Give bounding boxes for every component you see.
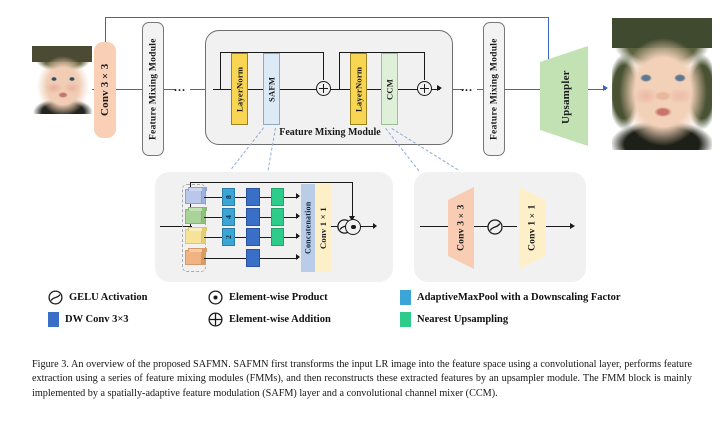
safm-conv-1x1-block: Conv 1×1 xyxy=(315,184,331,272)
ccm-conv-3x3-label: Conv 3×3 xyxy=(456,205,467,251)
upsampler-block: Upsampler xyxy=(536,28,592,148)
feature-mixing-module-right-label: Feature Mixing Module xyxy=(489,38,500,140)
feature-map-slab-1 xyxy=(185,189,202,204)
input-lr-image xyxy=(32,46,92,114)
safm-branch-2-arrowhead xyxy=(296,213,300,219)
dw-conv-swatch xyxy=(48,312,59,327)
legend-item-gelu-activation: GELU Activation xyxy=(48,290,147,305)
gelu-activation-icon xyxy=(487,219,503,235)
adaptive-maxpool-swatch xyxy=(400,290,411,305)
fmm-residual-1-left-riser xyxy=(220,52,221,89)
safm-label: SAFM xyxy=(267,76,277,101)
fmm-residual-1-right-drop xyxy=(323,52,324,80)
ccm-conv-1x1-label-wrap: Conv 1×1 xyxy=(519,194,545,262)
adaptive-maxpool-8: 8 xyxy=(222,188,235,206)
feature-mixing-module-right: Feature Mixing Module xyxy=(483,22,505,156)
concatenation-block: Concatenation xyxy=(301,184,315,272)
figure-caption-divider xyxy=(0,338,720,339)
output-hr-image xyxy=(612,18,712,150)
legend: GELU Activation DW Conv 3×3 Element-wise… xyxy=(48,288,678,332)
layernorm-2-block: LayerNorm xyxy=(350,53,367,125)
element-wise-product-node xyxy=(345,219,361,235)
element-wise-addition-icon xyxy=(208,312,223,327)
feature-mixing-module-left: Feature Mixing Module xyxy=(142,22,164,156)
nearest-upsample-3 xyxy=(271,228,284,246)
legend-item-dw-conv: DW Conv 3×3 xyxy=(48,312,129,327)
safm-conv-1x1-label: Conv 1×1 xyxy=(318,207,328,249)
conv-to-fmm-line xyxy=(116,89,144,90)
element-wise-product-icon xyxy=(208,290,223,305)
fmm-right-to-add-line xyxy=(505,89,540,90)
upsampler-to-output-arrowhead xyxy=(603,85,608,91)
conv-3x3-head-block: Conv 3×3 xyxy=(94,42,116,138)
legend-item-adaptive-maxpool: AdaptiveMaxPool with a Downscaling Facto… xyxy=(400,290,621,305)
ellipsis-right: ... xyxy=(461,80,477,95)
nearest-upsampling-swatch xyxy=(400,312,411,327)
dw-conv-2 xyxy=(246,208,260,226)
dw-conv-3 xyxy=(246,228,260,246)
safm-branch-4-line-a xyxy=(204,258,246,259)
fmm-add-node-2 xyxy=(417,81,432,96)
ccm-label: CCM xyxy=(385,78,395,99)
legend-label-adaptive-maxpool: AdaptiveMaxPool with a Downscaling Facto… xyxy=(417,292,621,303)
ccm-output-arrowhead xyxy=(570,223,575,229)
ellipsis-to-fmm-detail-line xyxy=(190,89,206,90)
legend-label-dw-conv: DW Conv 3×3 xyxy=(65,314,129,325)
fmm-residual-2-right-drop xyxy=(424,52,425,80)
ccm-gelu-node xyxy=(487,219,503,235)
fmm-add-node-1 xyxy=(316,81,331,96)
safm-branch-1-line-a xyxy=(204,197,224,198)
legend-item-element-wise-addition: Element-wise Addition xyxy=(208,312,331,327)
ccm-conv-3x3-label-wrap: Conv 3×3 xyxy=(448,194,474,262)
legend-label-gelu-activation: GELU Activation xyxy=(69,292,147,303)
safm-branch-3-line-a xyxy=(204,237,224,238)
dw-conv-4 xyxy=(246,249,260,267)
ccm-conv-1x1-block: Conv 1×1 xyxy=(513,186,551,270)
legend-item-nearest-upsampling: Nearest Upsampling xyxy=(400,312,508,327)
dw-conv-1 xyxy=(246,188,260,206)
layernorm-2-label: LayerNorm xyxy=(354,66,364,111)
adaptive-maxpool-2: 2 xyxy=(222,228,235,246)
safm-output-arrowhead xyxy=(373,223,377,229)
fmm-residual-2-left-riser xyxy=(339,52,340,89)
safm-branch-4-arrowhead xyxy=(296,254,300,260)
safm-branch-3-arrowhead xyxy=(296,233,300,239)
safm-branch-2-line-a xyxy=(204,217,224,218)
nearest-upsample-1 xyxy=(271,188,284,206)
conv-3x3-head-label: Conv 3×3 xyxy=(99,64,111,116)
ccm-block: CCM xyxy=(381,53,398,125)
feature-map-slab-2 xyxy=(185,209,202,224)
feature-map-slab-4 xyxy=(185,250,202,265)
layernorm-1-label: LayerNorm xyxy=(235,66,245,111)
safm-detail-skip-drop xyxy=(352,182,353,219)
adaptive-maxpool-8-label: 8 xyxy=(222,188,235,206)
legend-item-element-wise-product: Element-wise Product xyxy=(208,290,328,305)
safm-branch-4-line-b xyxy=(260,258,298,259)
ccm-output-line xyxy=(546,226,572,227)
gelu-activation-icon xyxy=(48,290,63,305)
adaptive-maxpool-4: 4 xyxy=(222,208,235,226)
figure-caption: Figure 3. An overview of the proposed SA… xyxy=(32,358,692,401)
adaptive-maxpool-2-label: 2 xyxy=(222,228,235,246)
legend-label-nearest-upsampling: Nearest Upsampling xyxy=(417,314,508,325)
nearest-upsample-2 xyxy=(271,208,284,226)
safm-block: SAFM xyxy=(263,53,280,125)
ccm-conv-3x3-block: Conv 3×3 xyxy=(442,186,480,270)
adaptive-maxpool-4-label: 4 xyxy=(222,208,235,226)
safm-branch-1-arrowhead xyxy=(296,193,300,199)
fmm-out-arrowhead xyxy=(437,85,442,91)
feature-mixing-module-left-label: Feature Mixing Module xyxy=(148,38,159,140)
layernorm-1-block: LayerNorm xyxy=(231,53,248,125)
ccm-conv-1x1-label: Conv 1×1 xyxy=(527,205,538,251)
feature-map-slab-3 xyxy=(185,229,202,244)
global-skip-horizontal-line xyxy=(105,17,549,18)
legend-label-element-wise-product: Element-wise Product xyxy=(229,292,328,303)
concatenation-label: Concatenation xyxy=(304,202,313,254)
legend-label-element-wise-addition: Element-wise Addition xyxy=(229,314,331,325)
upsampler-label-wrap: Upsampler xyxy=(550,50,582,144)
ellipsis-left: ... xyxy=(174,80,190,95)
figure-3-safmn-overview: Conv 3×3 Feature Mixing Module ... Layer… xyxy=(0,0,720,431)
